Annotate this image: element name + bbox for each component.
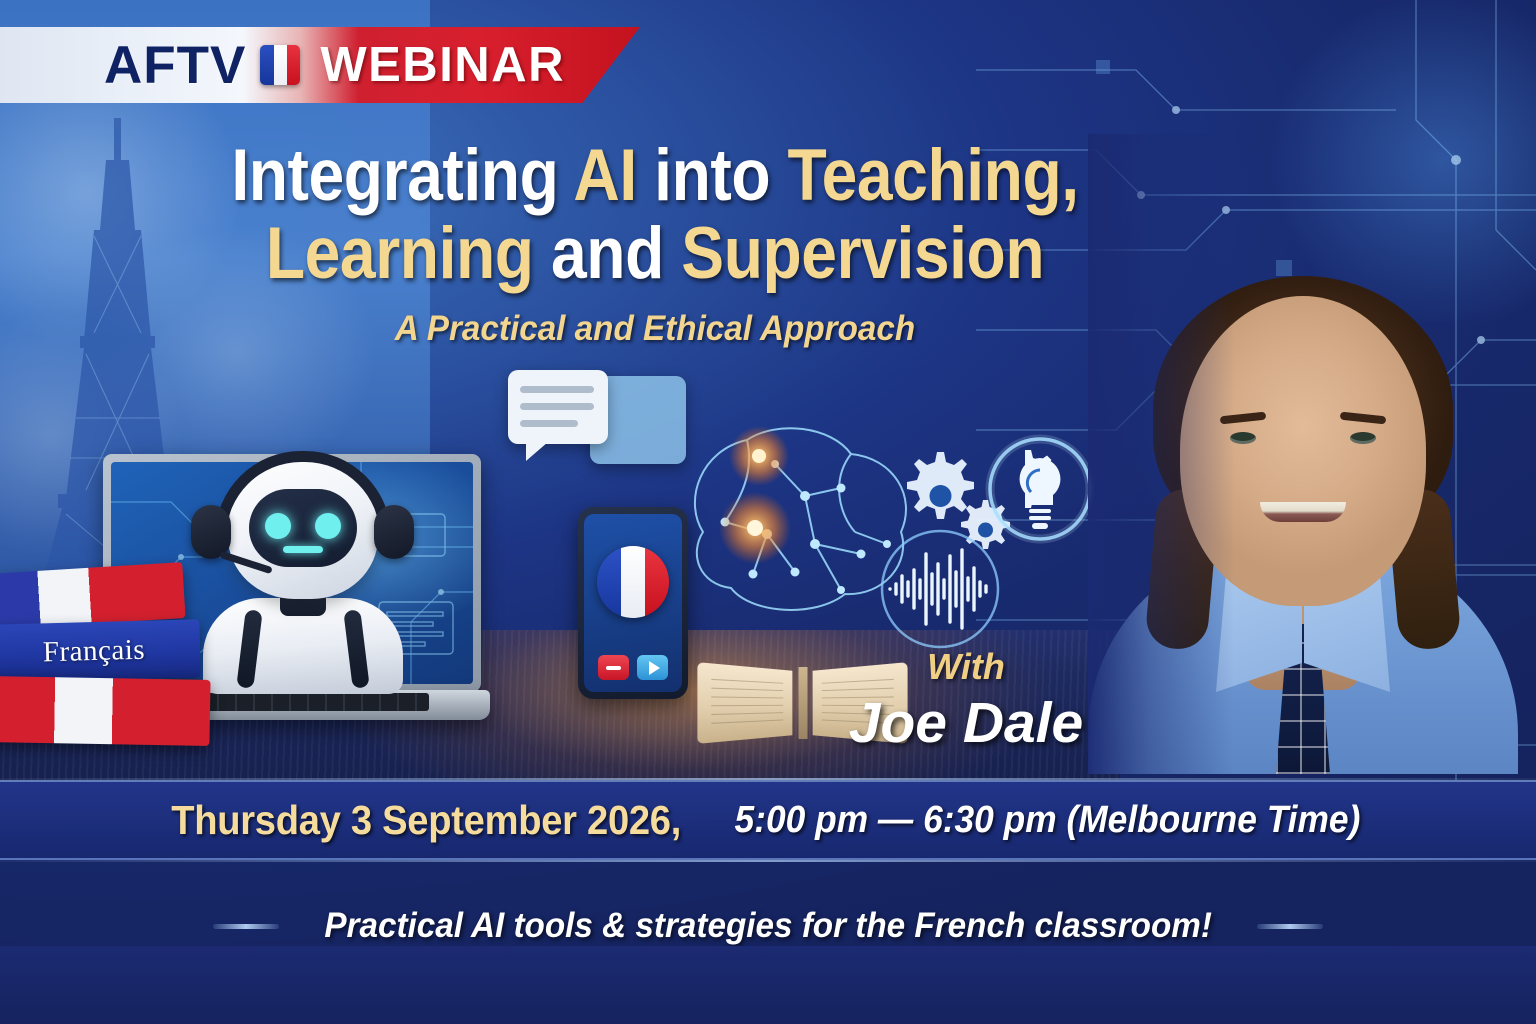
book-bottom	[0, 676, 211, 746]
title-line-2: Learning and Supervision	[211, 218, 1100, 290]
french-books-stack: Français	[0, 562, 213, 752]
chat-bubble-front-icon	[508, 370, 608, 444]
photo-edge-fade	[1088, 134, 1518, 774]
title-word-supervision: Supervision	[681, 213, 1044, 294]
title-word-ai: AI	[573, 135, 636, 216]
bottom-strip	[0, 946, 1536, 1024]
divider-dash-right	[1257, 924, 1323, 929]
book-spine	[798, 667, 807, 739]
with-label: With	[816, 646, 1116, 688]
robot-headphone-left	[191, 505, 231, 559]
ai-robot-icon	[195, 459, 410, 694]
tagline-text: Practical AI tools & strategies for the …	[324, 906, 1212, 946]
title-word-integrating: Integrating	[231, 135, 573, 216]
event-type-label: WEBINAR	[320, 37, 565, 93]
aftv-webinar-banner: AFTV WEBINAR	[0, 27, 640, 103]
book-page-left	[697, 662, 792, 744]
divider-line-bottom	[0, 860, 1536, 862]
tagline-row: Practical AI tools & strategies for the …	[0, 906, 1536, 946]
webinar-promo-poster: AFTV WEBINAR Integrating AI into Teachin…	[0, 0, 1536, 1024]
schedule-bar: Thursday 3 September 2026, 5:00 pm — 6:3…	[0, 780, 1536, 860]
event-date: Thursday 3 September 2026,	[172, 797, 682, 844]
event-time: 5:00 pm — 6:30 pm (Melbourne Time)	[734, 799, 1360, 842]
book-middle: Français	[0, 619, 201, 683]
title-word-teaching: Teaching,	[788, 135, 1079, 216]
divider-line-top	[0, 778, 1536, 780]
book-text-lines	[711, 679, 783, 725]
bubble-text-line	[520, 420, 578, 427]
title-word-learning: Learning	[266, 213, 534, 294]
presenter-photo	[1088, 134, 1518, 774]
phone-play-button[interactable]	[637, 655, 668, 680]
bubble-text-line	[520, 386, 594, 393]
robot-headphone-right	[374, 505, 414, 559]
audio-waveform-icon	[870, 524, 1010, 654]
phone-record-button[interactable]	[598, 655, 629, 680]
title-word-into: into	[637, 135, 788, 216]
robot-headset-band	[215, 451, 391, 537]
subtitle: A Practical and Ethical Approach	[175, 309, 1135, 349]
robot-smile	[283, 546, 323, 553]
presenter-credit: With Joe Dale	[816, 646, 1116, 756]
organisation-acronym: AFTV	[104, 35, 246, 96]
presenter-name: Joe Dale	[816, 690, 1116, 756]
title-line-1: Integrating AI into Teaching,	[211, 140, 1100, 212]
french-flag-icon	[260, 45, 300, 85]
title-word-and: and	[534, 213, 682, 294]
bubble-text-line	[520, 403, 594, 410]
book-spine-label: Français	[42, 633, 145, 669]
divider-dash-left	[213, 924, 279, 929]
title-block: Integrating AI into Teaching, Learning a…	[150, 140, 1160, 349]
